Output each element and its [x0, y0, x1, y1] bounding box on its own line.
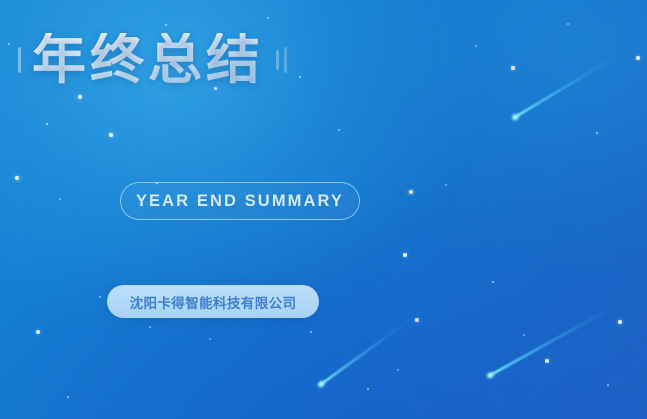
subtitle-pill-label: YEAR END SUMMARY: [136, 192, 344, 211]
page-title: 年终总结: [32, 33, 264, 87]
tick-mark-icon-left: [18, 47, 21, 73]
title-block: 年终总结: [18, 33, 287, 87]
cover-slide: 年终总结 YEAR END SUMMARY 沈阳卡得智能科技有限公司: [0, 0, 647, 419]
company-pill-label: 沈阳卡得智能科技有限公司: [130, 292, 297, 312]
company-pill[interactable]: 沈阳卡得智能科技有限公司: [107, 285, 319, 318]
subtitle-pill[interactable]: YEAR END SUMMARY: [120, 182, 360, 220]
tick-mark-icon-right-b: [284, 47, 287, 73]
tick-mark-icon-right-a: [276, 50, 279, 70]
